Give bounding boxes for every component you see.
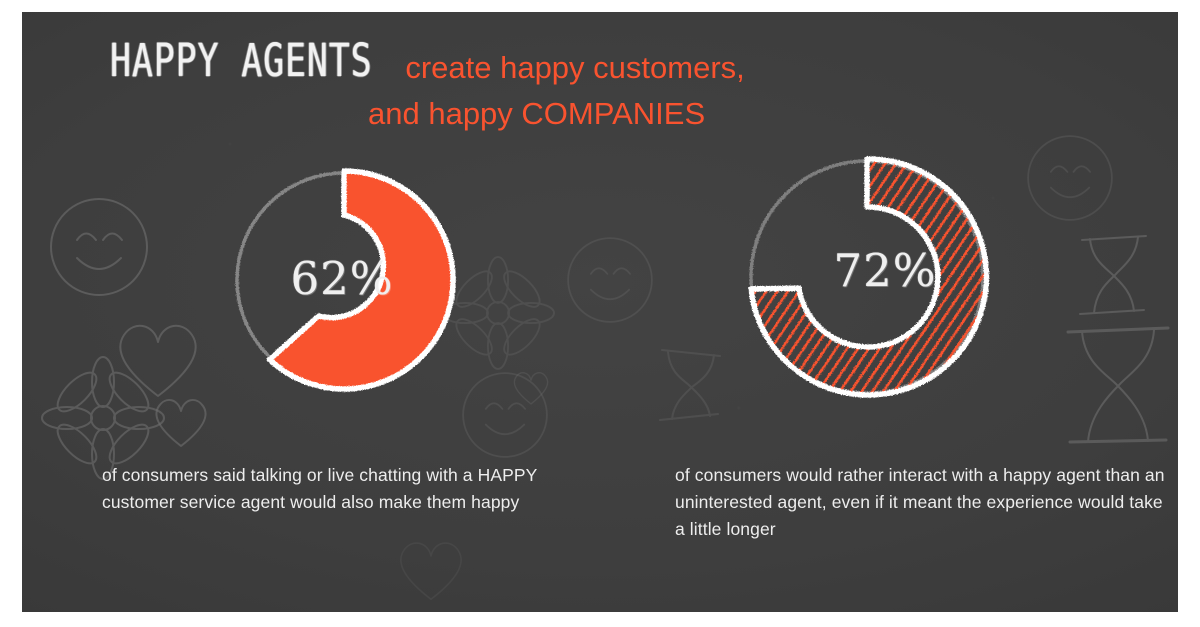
page-title: HAPPY AGENTS bbox=[110, 35, 373, 87]
headline-first-row: HAPPY AGENTS create happy customers, bbox=[110, 44, 1110, 90]
donut-percent-label: 62% bbox=[197, 252, 487, 305]
stat-panel-left: 62% bbox=[177, 130, 607, 430]
caption-right-container: of consumers would rather interact with … bbox=[675, 462, 1167, 543]
heart-icon bbox=[392, 532, 470, 604]
chalkboard-canvas: HAPPY AGENTS create happy customers, and… bbox=[22, 12, 1178, 612]
donut-chart-62: 62% bbox=[199, 130, 489, 430]
stat-panel-right: 72% bbox=[682, 112, 1152, 442]
headline-accent-line-1: create happy customers, bbox=[405, 46, 744, 90]
stat-caption-right: of consumers would rather interact with … bbox=[675, 462, 1167, 543]
slide-frame: HAPPY AGENTS create happy customers, and… bbox=[0, 0, 1200, 627]
donut-chart-72: 72% bbox=[712, 112, 1022, 442]
flower-icon bbox=[42, 357, 164, 479]
smiley-face-icon bbox=[44, 192, 154, 302]
stat-caption-left: of consumers said talking or live chatti… bbox=[102, 462, 582, 516]
donut-percent-label: 72% bbox=[730, 244, 1040, 297]
caption-left-container: of consumers said talking or live chatti… bbox=[102, 462, 582, 516]
